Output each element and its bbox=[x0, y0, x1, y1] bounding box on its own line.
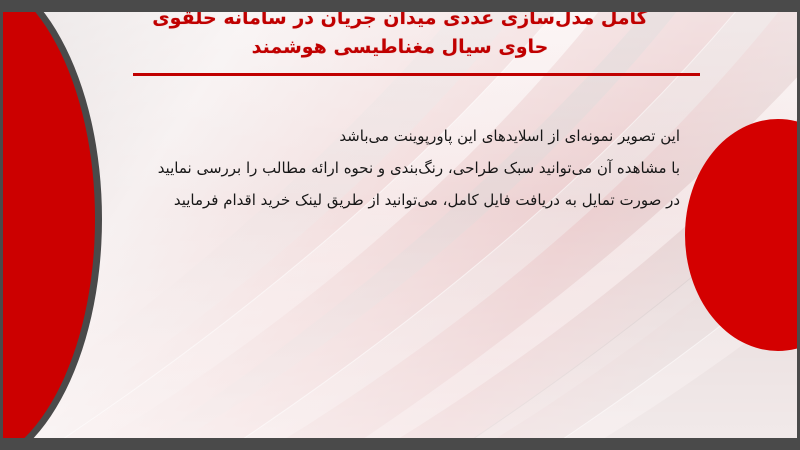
frame-band-top bbox=[0, 0, 800, 12]
body-line-1: این تصویر نمونه‌ای از اسلایدهای این پاور… bbox=[120, 120, 680, 152]
body-line-3: در صورت تمایل به دریافت فایل کامل، می‌تو… bbox=[120, 184, 680, 216]
presentation-slide: کامل مدل‌سازی عددی میدان جریان در سامانه… bbox=[0, 0, 800, 450]
title-underline-rule bbox=[133, 73, 700, 76]
frame-band-left bbox=[0, 0, 3, 450]
frame-band-bottom bbox=[0, 438, 800, 450]
slide-title: کامل مدل‌سازی عددی میدان جریان در سامانه… bbox=[60, 4, 740, 62]
slide-title-line-2: حاوی سیال مغناطیسی هوشمند bbox=[60, 33, 740, 62]
slide-body-text: این تصویر نمونه‌ای از اسلایدهای این پاور… bbox=[120, 120, 680, 216]
body-line-2: با مشاهده آن می‌توانید سبک طراحی، رنگ‌بن… bbox=[120, 152, 680, 184]
